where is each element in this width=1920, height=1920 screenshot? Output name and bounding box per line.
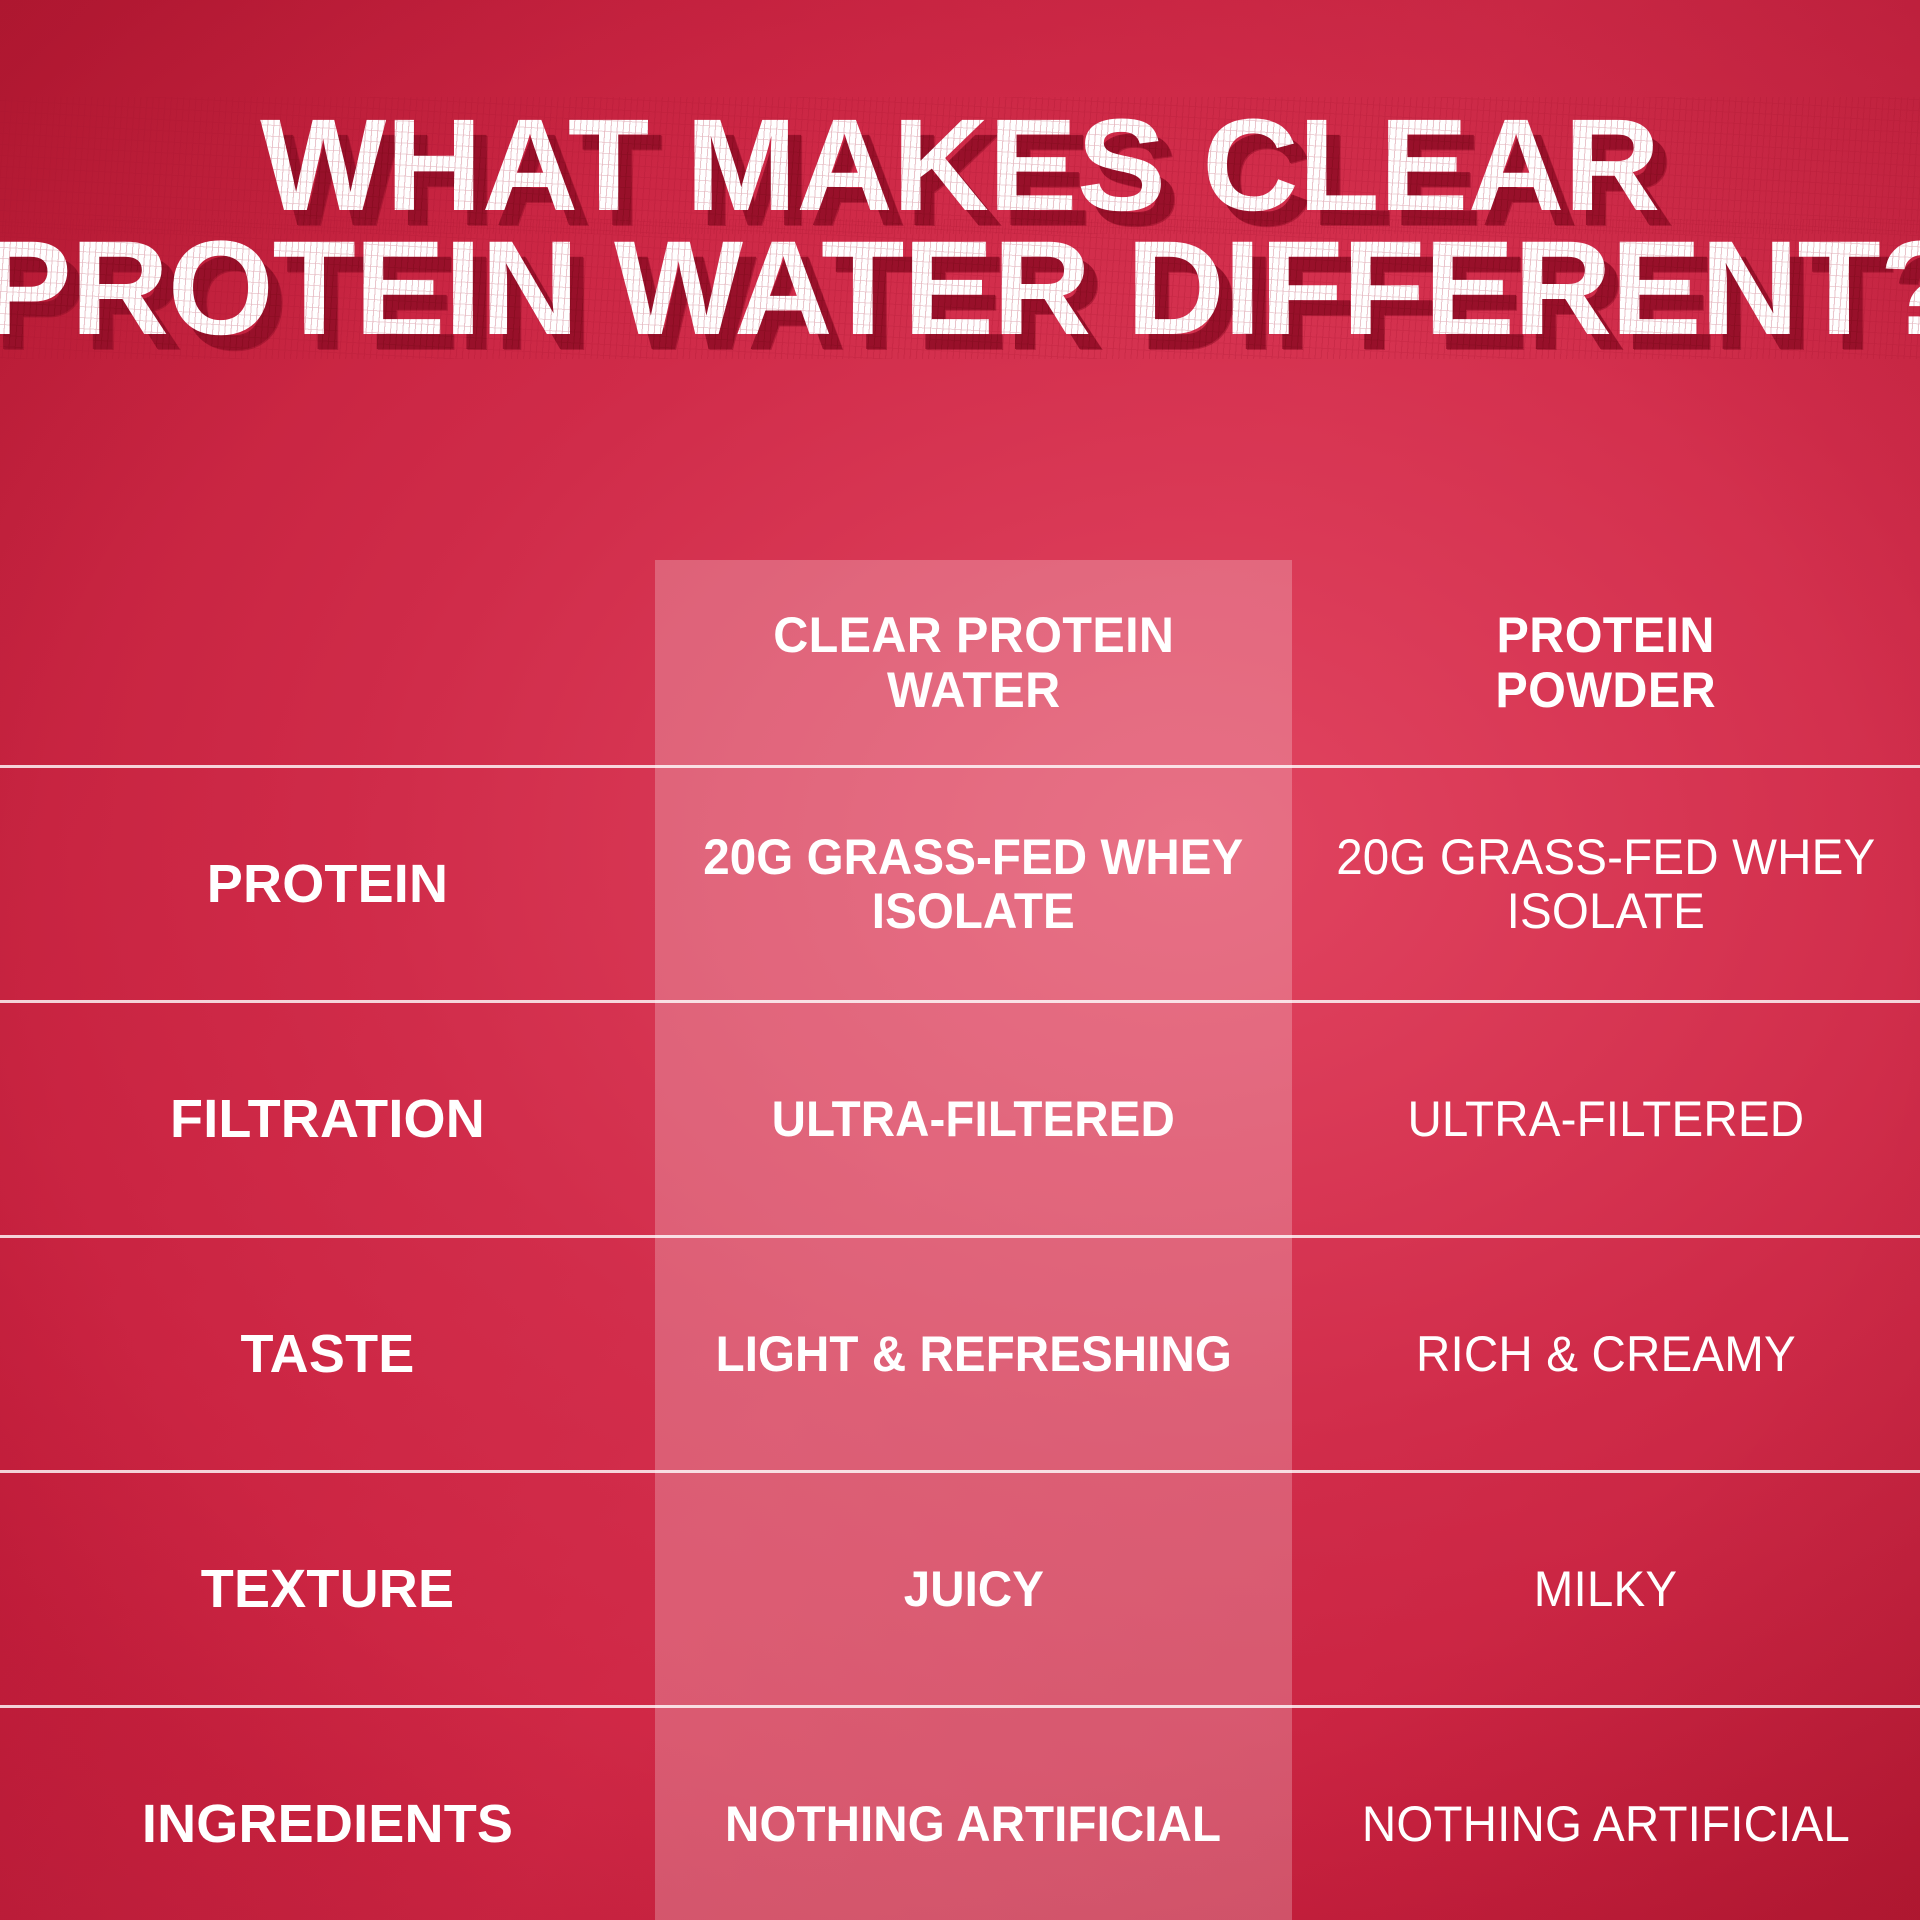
row-label-cell: INGREDIENTS <box>0 1708 655 1920</box>
header-cell-clear-protein-water: CLEAR PROTEIN WATER <box>655 560 1292 765</box>
column-header-pp-line-1: PROTEIN <box>1496 608 1717 663</box>
value-line-1: MILKY <box>1534 1562 1678 1616</box>
comparison-infographic: WHAT MAKES CLEAR PROTEIN WATER DIFFERENT… <box>0 0 1920 1920</box>
row-value-cell-clear-protein-water: JUICY <box>655 1473 1292 1705</box>
value-line-1: LIGHT & REFRESHING <box>715 1327 1231 1381</box>
value-filtration-protein-powder: ULTRA-FILTERED <box>1408 1092 1805 1146</box>
table-row: INGREDIENTS NOTHING ARTIFICIAL NOTHING A… <box>0 1705 1920 1920</box>
column-header-cpw-line-1: CLEAR PROTEIN <box>773 608 1174 663</box>
value-line-1: NOTHING ARTIFICIAL <box>1362 1797 1850 1851</box>
row-value-cell-protein-powder: MILKY <box>1292 1473 1920 1705</box>
value-protein-protein-powder: 20g GRASS-FED WHEY ISOLATE <box>1336 830 1875 938</box>
row-value-cell-clear-protein-water: ULTRA-FILTERED <box>655 1003 1292 1235</box>
table-row: TASTE LIGHT & REFRESHING RICH & CREAMY <box>0 1235 1920 1470</box>
page-title-line-2: PROTEIN WATER DIFFERENT? <box>0 226 1920 351</box>
value-taste-clear-protein-water: LIGHT & REFRESHING <box>715 1327 1231 1381</box>
row-value-cell-protein-powder: NOTHING ARTIFICIAL <box>1292 1708 1920 1920</box>
row-label-cell: TEXTURE <box>0 1473 655 1705</box>
page-title-line-1: WHAT MAKES CLEAR <box>0 104 1920 226</box>
value-texture-clear-protein-water: JUICY <box>903 1562 1043 1616</box>
row-value-cell-protein-powder: 20g GRASS-FED WHEY ISOLATE <box>1292 768 1920 1000</box>
value-protein-clear-protein-water: 20g GRASS-FED WHEY ISOLATE <box>703 830 1243 938</box>
row-label-texture: TEXTURE <box>201 1558 454 1620</box>
value-ingredients-clear-protein-water: NOTHING ARTIFICIAL <box>725 1797 1221 1851</box>
value-filtration-clear-protein-water: ULTRA-FILTERED <box>772 1092 1175 1146</box>
value-line-1: ULTRA-FILTERED <box>772 1092 1175 1146</box>
column-header-protein-powder: PROTEIN POWDER <box>1496 608 1717 718</box>
table-grid: CLEAR PROTEIN WATER PROTEIN POWDER PROTE… <box>0 560 1920 1920</box>
value-line-2: ISOLATE <box>1336 884 1875 938</box>
row-value-cell-protein-powder: RICH & CREAMY <box>1292 1238 1920 1470</box>
table-row: FILTRATION ULTRA-FILTERED ULTRA-FILTERED <box>0 1000 1920 1235</box>
value-line-1: JUICY <box>903 1562 1043 1616</box>
row-label-cell: TASTE <box>0 1238 655 1470</box>
page-title: WHAT MAKES CLEAR PROTEIN WATER DIFFERENT… <box>0 104 1920 352</box>
table-row: TEXTURE JUICY MILKY <box>0 1470 1920 1705</box>
row-value-cell-clear-protein-water: NOTHING ARTIFICIAL <box>655 1708 1292 1920</box>
table-header-row: CLEAR PROTEIN WATER PROTEIN POWDER <box>0 560 1920 765</box>
value-line-1: NOTHING ARTIFICIAL <box>725 1797 1221 1851</box>
value-line-1: 20g GRASS-FED WHEY <box>1336 830 1875 884</box>
row-label-ingredients: INGREDIENTS <box>142 1793 513 1855</box>
value-line-1: RICH & CREAMY <box>1416 1327 1796 1381</box>
row-value-cell-clear-protein-water: 20g GRASS-FED WHEY ISOLATE <box>655 768 1292 1000</box>
value-texture-protein-powder: MILKY <box>1534 1562 1678 1616</box>
row-label-cell: PROTEIN <box>0 768 655 1000</box>
header-cell-attribute <box>0 560 655 765</box>
value-line-1: ULTRA-FILTERED <box>1408 1092 1805 1146</box>
row-value-cell-clear-protein-water: LIGHT & REFRESHING <box>655 1238 1292 1470</box>
row-value-cell-protein-powder: ULTRA-FILTERED <box>1292 1003 1920 1235</box>
row-label-cell: FILTRATION <box>0 1003 655 1235</box>
column-header-cpw-line-2: WATER <box>773 663 1174 718</box>
column-header-clear-protein-water: CLEAR PROTEIN WATER <box>773 608 1174 718</box>
row-label-filtration: FILTRATION <box>170 1088 485 1150</box>
value-taste-protein-powder: RICH & CREAMY <box>1416 1327 1796 1381</box>
row-label-protein: PROTEIN <box>207 853 448 915</box>
value-line-1: 20g GRASS-FED WHEY <box>703 830 1243 884</box>
row-label-taste: TASTE <box>241 1323 415 1385</box>
value-ingredients-protein-powder: NOTHING ARTIFICIAL <box>1362 1797 1850 1851</box>
table-row: PROTEIN 20g GRASS-FED WHEY ISOLATE 20g G… <box>0 765 1920 1000</box>
comparison-table: CLEAR PROTEIN WATER PROTEIN POWDER PROTE… <box>0 560 1920 1920</box>
column-header-pp-line-2: POWDER <box>1496 663 1717 718</box>
header-cell-protein-powder: PROTEIN POWDER <box>1292 560 1920 765</box>
value-line-2: ISOLATE <box>703 884 1243 938</box>
